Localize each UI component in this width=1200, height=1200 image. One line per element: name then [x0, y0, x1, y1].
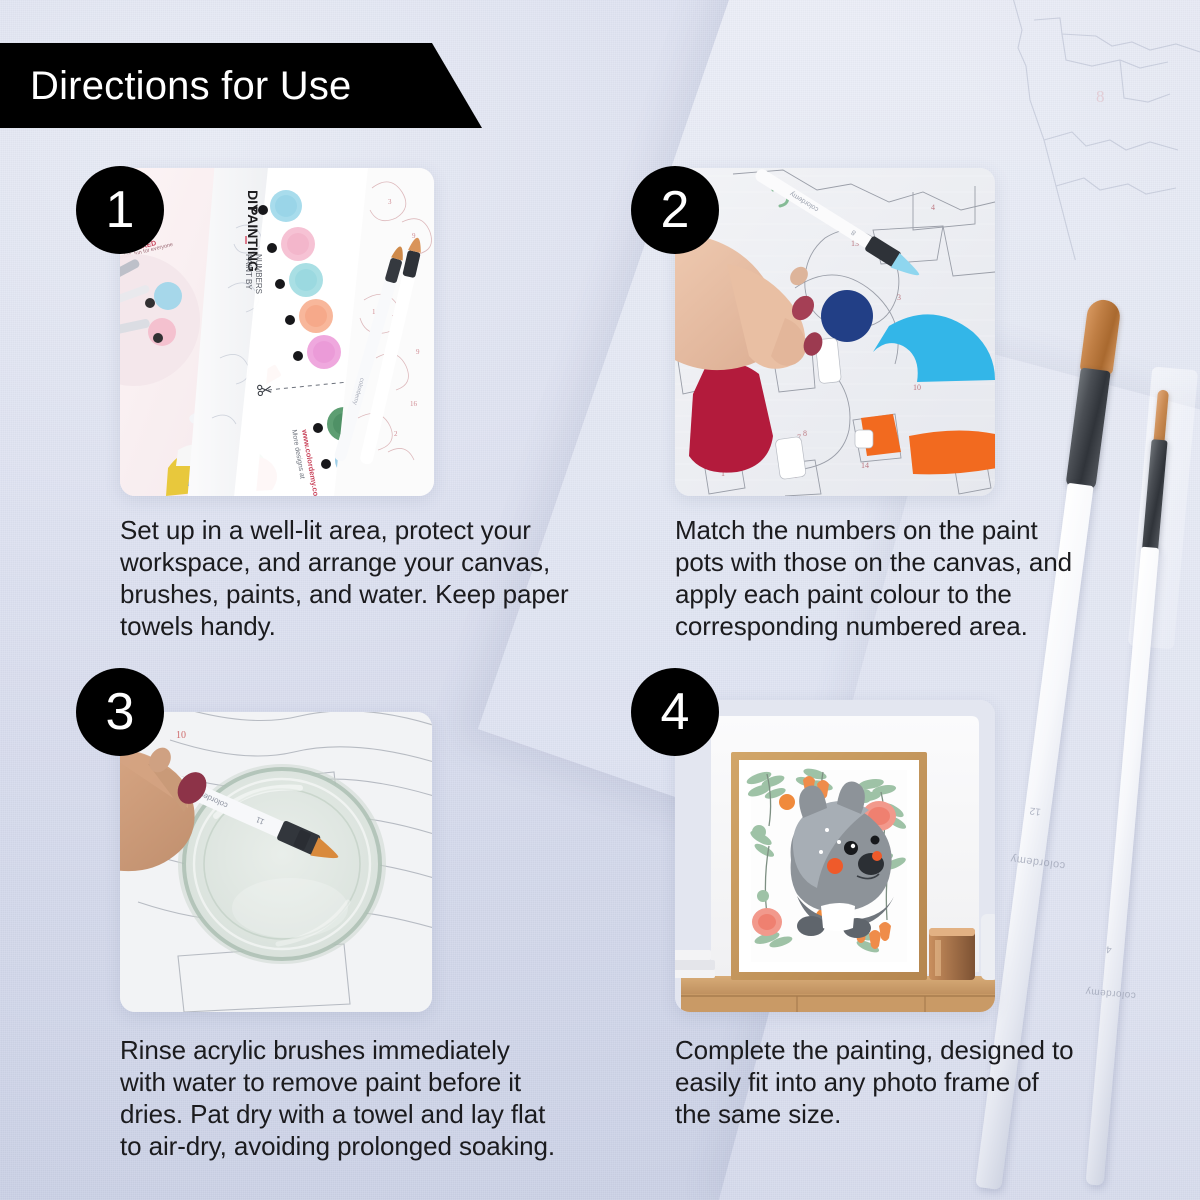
step-badge-2: 2 — [631, 166, 719, 254]
step-text-2: Match the numbers on the paint pots with… — [675, 514, 1075, 642]
svg-text:9: 9 — [416, 348, 420, 356]
svg-text:PAINT BY: PAINT BY — [244, 254, 253, 290]
svg-text:10: 10 — [913, 383, 921, 392]
step-badge-3: 3 — [76, 668, 164, 756]
svg-text:10: 10 — [176, 730, 186, 741]
svg-text:16: 16 — [410, 400, 418, 408]
step-text-4: Complete the painting, designed to easil… — [675, 1034, 1075, 1130]
svg-text:3: 3 — [388, 198, 392, 206]
svg-text:8: 8 — [803, 429, 807, 438]
brush-size-label: 4 — [1106, 943, 1113, 954]
svg-text:4: 4 — [931, 203, 935, 212]
paint-kit-photo: SUARED genius, fun for everyone — [120, 168, 434, 496]
svg-text:NUMBERS: NUMBERS — [254, 254, 263, 294]
svg-text:2: 2 — [394, 430, 398, 438]
rinsing-brush-photo: 10 colordemy 11 — [120, 712, 432, 1012]
header-banner: Directions for Use — [0, 43, 482, 128]
step-badge-1: 1 — [76, 166, 164, 254]
step-text-3: Rinse acrylic brushes immediately with w… — [120, 1034, 560, 1162]
step-badge-4: 4 — [631, 668, 719, 756]
page-title: Directions for Use — [0, 66, 351, 106]
painting-canvas-photo: 413 310 814 111 11 7 — [675, 168, 995, 496]
framed-artwork-photo — [675, 700, 995, 1012]
svg-text:3: 3 — [897, 293, 901, 302]
step-text-1: Set up in a well-lit area, protect your … — [120, 514, 570, 642]
brush-size-label: 12 — [1029, 805, 1041, 817]
svg-text:14: 14 — [861, 461, 869, 470]
brush-bristles — [1153, 389, 1169, 444]
